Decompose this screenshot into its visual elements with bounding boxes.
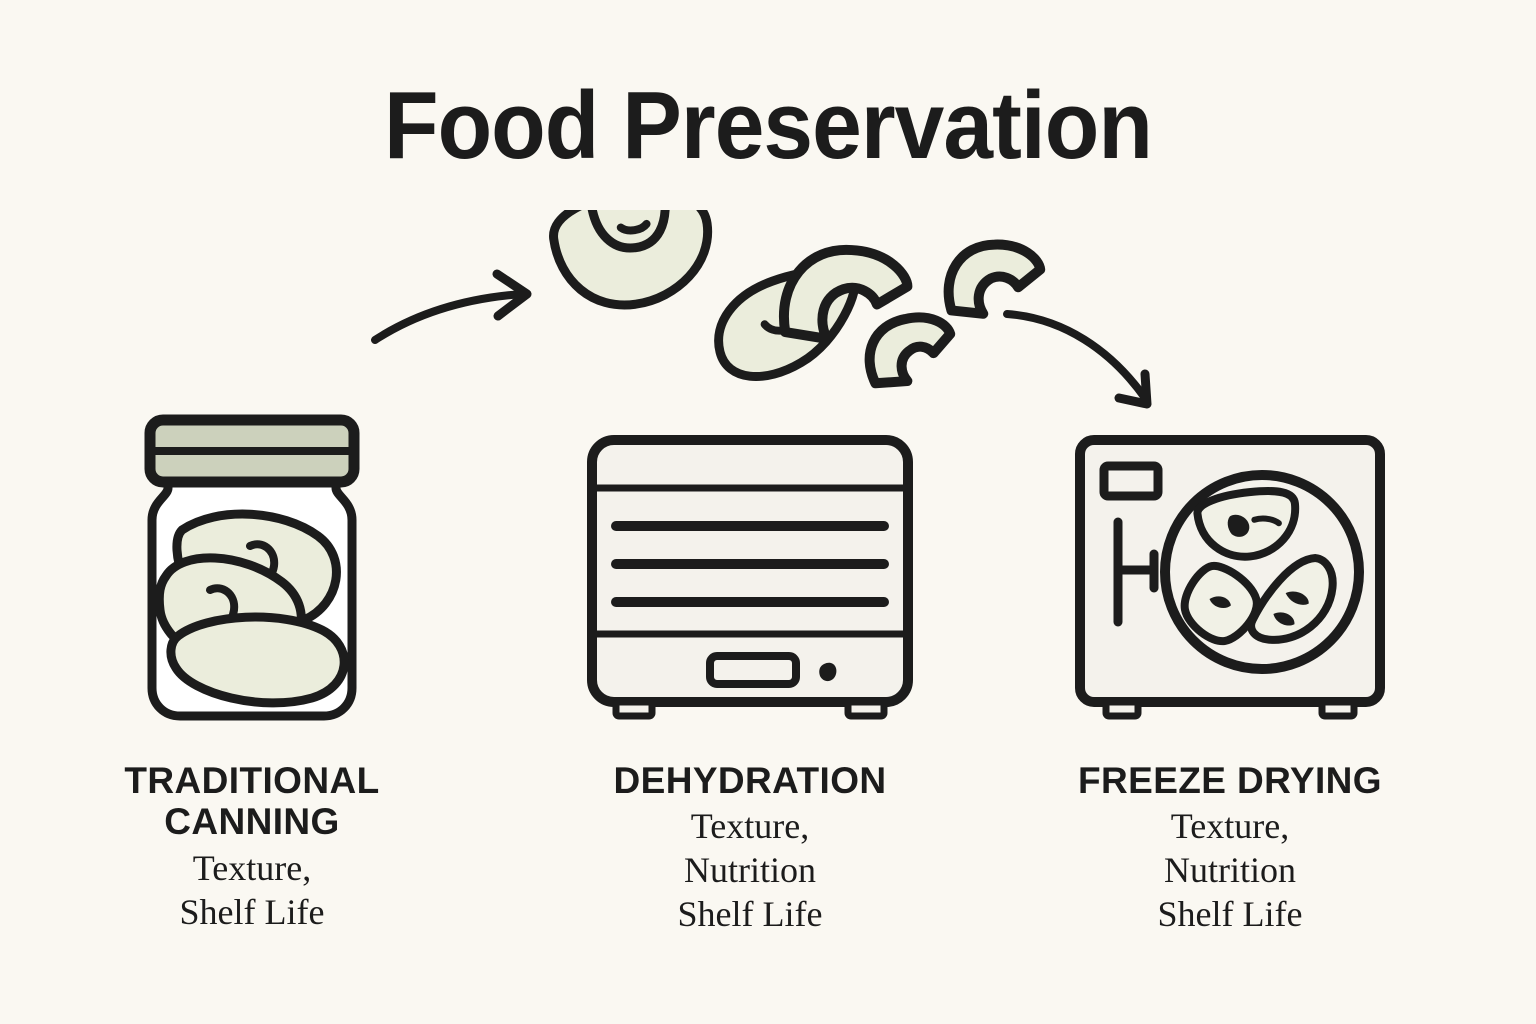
apple-half-slice-icon	[549, 210, 717, 314]
method-column-traditional-canning: TRADITIONAL CANNING Texture, Shelf Life	[42, 400, 462, 935]
method-attributes: Texture, Nutrition Shelf Life	[540, 805, 960, 937]
method-illustration	[1020, 400, 1440, 730]
preserving-jar-icon	[122, 410, 382, 730]
method-illustration	[540, 400, 960, 730]
method-attributes: Texture, Shelf Life	[42, 847, 462, 935]
method-column-freeze-drying: FREEZE DRYING Texture, Nutrition Shelf L…	[1020, 400, 1440, 937]
process-flow-illustration	[355, 210, 1185, 430]
freeze-dryer-icon	[1070, 430, 1390, 730]
flow-svg	[355, 210, 1185, 430]
method-title: TRADITIONAL CANNING	[42, 760, 462, 843]
method-illustration	[42, 400, 462, 730]
food-dehydrator-icon	[580, 430, 920, 730]
infographic-canvas: Food Preservation	[0, 0, 1536, 1024]
method-title: FREEZE DRYING	[1020, 760, 1440, 801]
dried-apple-crescent-medium-icon	[946, 240, 1042, 320]
method-attributes: Texture, Nutrition Shelf Life	[1020, 805, 1440, 937]
curved-arrow-right-icon	[375, 274, 527, 340]
dried-apple-crescent-small-icon	[867, 315, 953, 383]
curved-arrow-down-right-icon	[1007, 314, 1147, 404]
method-caption: TRADITIONAL CANNING Texture, Shelf Life	[42, 760, 462, 935]
method-column-dehydration: DEHYDRATION Texture, Nutrition Shelf Lif…	[540, 400, 960, 937]
jar-apple-slices	[159, 514, 344, 703]
method-caption: FREEZE DRYING Texture, Nutrition Shelf L…	[1020, 760, 1440, 937]
method-title: DEHYDRATION	[540, 760, 960, 801]
page-title: Food Preservation	[54, 78, 1482, 174]
method-caption: DEHYDRATION Texture, Nutrition Shelf Lif…	[540, 760, 960, 937]
